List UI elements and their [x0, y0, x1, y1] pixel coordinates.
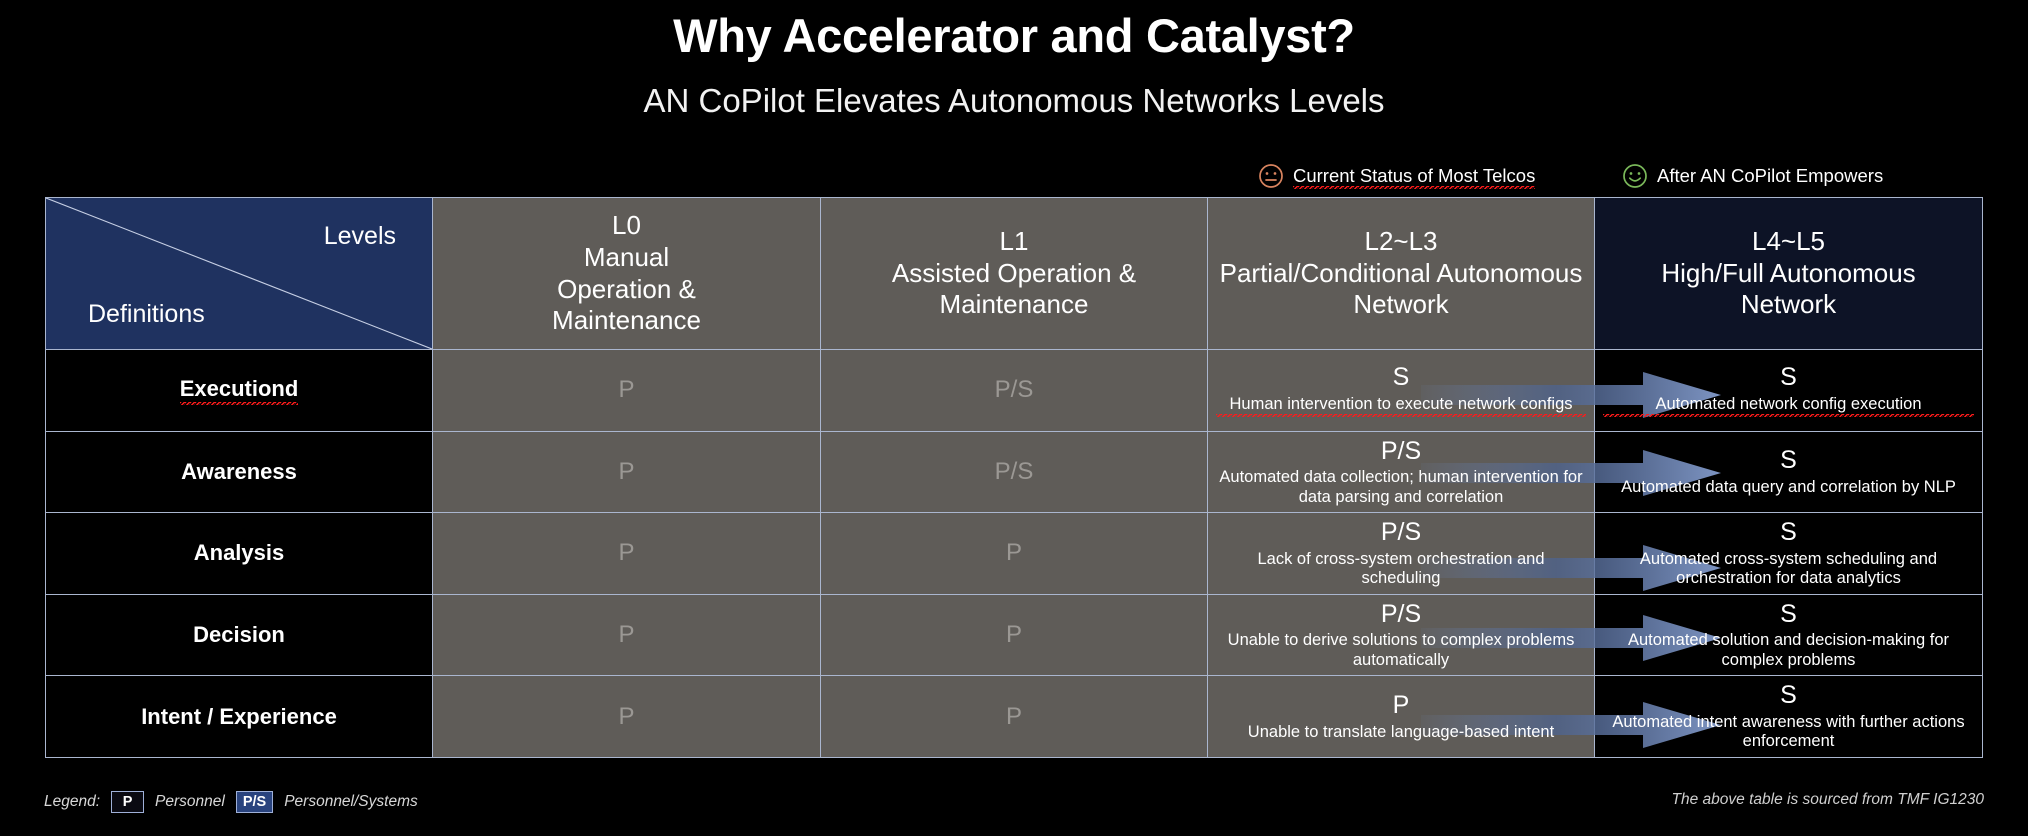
status-legend-current-label: Current Status of Most Telcos: [1293, 165, 1535, 187]
autonomous-levels-table: Levels Definitions L0 Manual Operation &…: [45, 197, 1983, 758]
table-row: Intent / Experience P P: [46, 676, 1983, 758]
row-cell-l0: P: [433, 676, 821, 758]
legend-chip-ps-text: Personnel/Systems: [284, 793, 418, 811]
source-note: The above table is sourced from TMF IG12…: [1672, 791, 1984, 809]
row-cell-future-desc: Automated cross-system scheduling and or…: [1603, 550, 1974, 589]
row-cell-future-code: S: [1603, 446, 1974, 476]
status-legend-current: Current Status of Most Telcos: [1258, 163, 1535, 189]
column-header-l4l5-code: L4~L5: [1601, 226, 1976, 258]
row-cell-current-desc: Human intervention to execute network co…: [1216, 395, 1586, 417]
row-cell-current: P/S Automated data collection; human int…: [1208, 431, 1595, 513]
column-header-l0-desc-2: Operation &: [439, 274, 814, 306]
row-cell-current-desc: Automated data collection; human interve…: [1216, 468, 1586, 507]
row-cell-future: S Automated solution and decision-making…: [1595, 594, 1983, 676]
row-cell-l0-code: P: [618, 539, 634, 566]
row-cell-current-desc: Unable to translate language-based inten…: [1216, 723, 1586, 742]
row-cell-l1: P: [821, 594, 1208, 676]
row-cell-l1-code: P: [1006, 703, 1022, 730]
row-cell-future: S Automated intent awareness with furthe…: [1595, 676, 1983, 758]
neutral-face-icon: [1258, 163, 1284, 189]
row-cell-future-desc: Automated data query and correlation by …: [1603, 478, 1974, 497]
row-cell-current: P/S Lack of cross-system orchestration a…: [1208, 513, 1595, 595]
row-cell-current: P Unable to translate language-based int…: [1208, 676, 1595, 758]
row-label: Awareness: [181, 459, 297, 485]
row-cell-l1-code: P: [1006, 539, 1022, 566]
row-label-cell: Executiond: [46, 350, 433, 432]
column-header-l4l5-desc-1: High/Full Autonomous: [1601, 258, 1976, 290]
row-cell-future-code: S: [1603, 363, 1974, 393]
row-cell-current-code: P/S: [1216, 437, 1586, 467]
row-cell-current-code: P/S: [1216, 518, 1586, 548]
row-cell-l1-code: P/S: [995, 376, 1034, 403]
row-cell-l0-code: P: [618, 621, 634, 648]
page-title: Why Accelerator and Catalyst?: [0, 8, 2028, 63]
slide-root: Why Accelerator and Catalyst? AN CoPilot…: [0, 0, 2028, 836]
row-cell-l0: P: [433, 431, 821, 513]
corner-levels-label: Levels: [324, 222, 396, 251]
row-cell-current-desc: Lack of cross-system orchestration and s…: [1216, 550, 1586, 589]
row-cell-current: P/S Unable to derive solutions to comple…: [1208, 594, 1595, 676]
row-cell-l0: P: [433, 350, 821, 432]
row-label-cell: Analysis: [46, 513, 433, 595]
legend-chip-p: P: [111, 791, 144, 813]
row-cell-current-code: P/S: [1216, 600, 1586, 630]
status-legend-current-text: Current Status of Most Telcos: [1293, 165, 1535, 189]
row-cell-l0-code: P: [618, 703, 634, 730]
footer-legend: Legend: P Personnel P/S Personnel/System…: [44, 791, 418, 813]
table-row: Analysis P P: [46, 513, 1983, 595]
row-cell-l0-code: P: [618, 458, 634, 485]
row-label: Analysis: [194, 540, 285, 566]
row-cell-future-code: S: [1603, 681, 1974, 711]
legend-chip-ps: P/S: [236, 791, 273, 813]
column-header-l2l3: L2~L3 Partial/Conditional Autonomous Net…: [1208, 198, 1595, 350]
row-cell-l0: P: [433, 594, 821, 676]
column-header-l4l5: L4~L5 High/Full Autonomous Network: [1595, 198, 1983, 350]
table-header-row: Levels Definitions L0 Manual Operation &…: [46, 198, 1983, 350]
corner-header-cell: Levels Definitions: [46, 198, 433, 350]
row-cell-l1-code: P/S: [995, 458, 1034, 485]
row-label-cell: Awareness: [46, 431, 433, 513]
column-header-l1-code: L1: [827, 226, 1201, 258]
table-row: Decision P P: [46, 594, 1983, 676]
row-cell-current-desc: Unable to derive solutions to complex pr…: [1216, 631, 1586, 670]
row-cell-future-desc: Automated intent awareness with further …: [1603, 713, 1974, 752]
table-row: Executiond P P/S: [46, 350, 1983, 432]
column-header-l2l3-desc-2: Network: [1214, 289, 1588, 321]
page-subtitle: AN CoPilot Elevates Autonomous Networks …: [0, 82, 2028, 120]
row-cell-future-code: S: [1603, 600, 1974, 630]
status-legend-future-label: After AN CoPilot Empowers: [1657, 165, 1883, 187]
column-header-l0-code: L0: [439, 210, 814, 242]
row-label-cell: Decision: [46, 594, 433, 676]
row-cell-current-code: P: [1216, 691, 1586, 721]
row-cell-current-code: S: [1216, 363, 1586, 393]
column-header-l0-desc-3: Maintenance: [439, 305, 814, 337]
column-header-l0-desc-1: Manual: [439, 242, 814, 274]
row-cell-l1: P/S: [821, 431, 1208, 513]
row-cell-future: S Automated network config execution: [1595, 350, 1983, 432]
row-label: Intent / Experience: [141, 704, 337, 730]
status-legend-future: After AN CoPilot Empowers: [1622, 163, 1883, 189]
row-cell-l1: P: [821, 513, 1208, 595]
row-cell-future-desc: Automated solution and decision-making f…: [1603, 631, 1974, 670]
column-header-l4l5-desc-2: Network: [1601, 289, 1976, 321]
row-cell-l0: P: [433, 513, 821, 595]
table-row: Awareness P P/S: [46, 431, 1983, 513]
column-header-l1-desc-1: Assisted Operation &: [827, 258, 1201, 290]
row-cell-future: S Automated cross-system scheduling and …: [1595, 513, 1983, 595]
row-label: Decision: [193, 622, 285, 648]
footer-legend-title: Legend:: [44, 793, 100, 811]
legend-chip-p-text: Personnel: [155, 793, 225, 811]
row-cell-l1: P/S: [821, 350, 1208, 432]
row-cell-future-code: S: [1603, 518, 1974, 548]
column-header-l1-desc-2: Maintenance: [827, 289, 1201, 321]
row-cell-l1: P: [821, 676, 1208, 758]
column-header-l2l3-desc-1: Partial/Conditional Autonomous: [1214, 258, 1588, 290]
column-header-l0: L0 Manual Operation & Maintenance: [433, 198, 821, 350]
row-cell-l0-code: P: [618, 376, 634, 403]
row-label: Executiond: [180, 376, 299, 405]
row-cell-future: S Automated data query and correlation b…: [1595, 431, 1983, 513]
smiley-face-icon: [1622, 163, 1648, 189]
column-header-l1: L1 Assisted Operation & Maintenance: [821, 198, 1208, 350]
row-cell-current: S Human intervention to execute network …: [1208, 350, 1595, 432]
row-label-cell: Intent / Experience: [46, 676, 433, 758]
corner-definitions-label: Definitions: [88, 300, 205, 329]
row-cell-future-desc: Automated network config execution: [1603, 395, 1974, 417]
row-cell-l1-code: P: [1006, 621, 1022, 648]
column-header-l2l3-code: L2~L3: [1214, 226, 1588, 258]
